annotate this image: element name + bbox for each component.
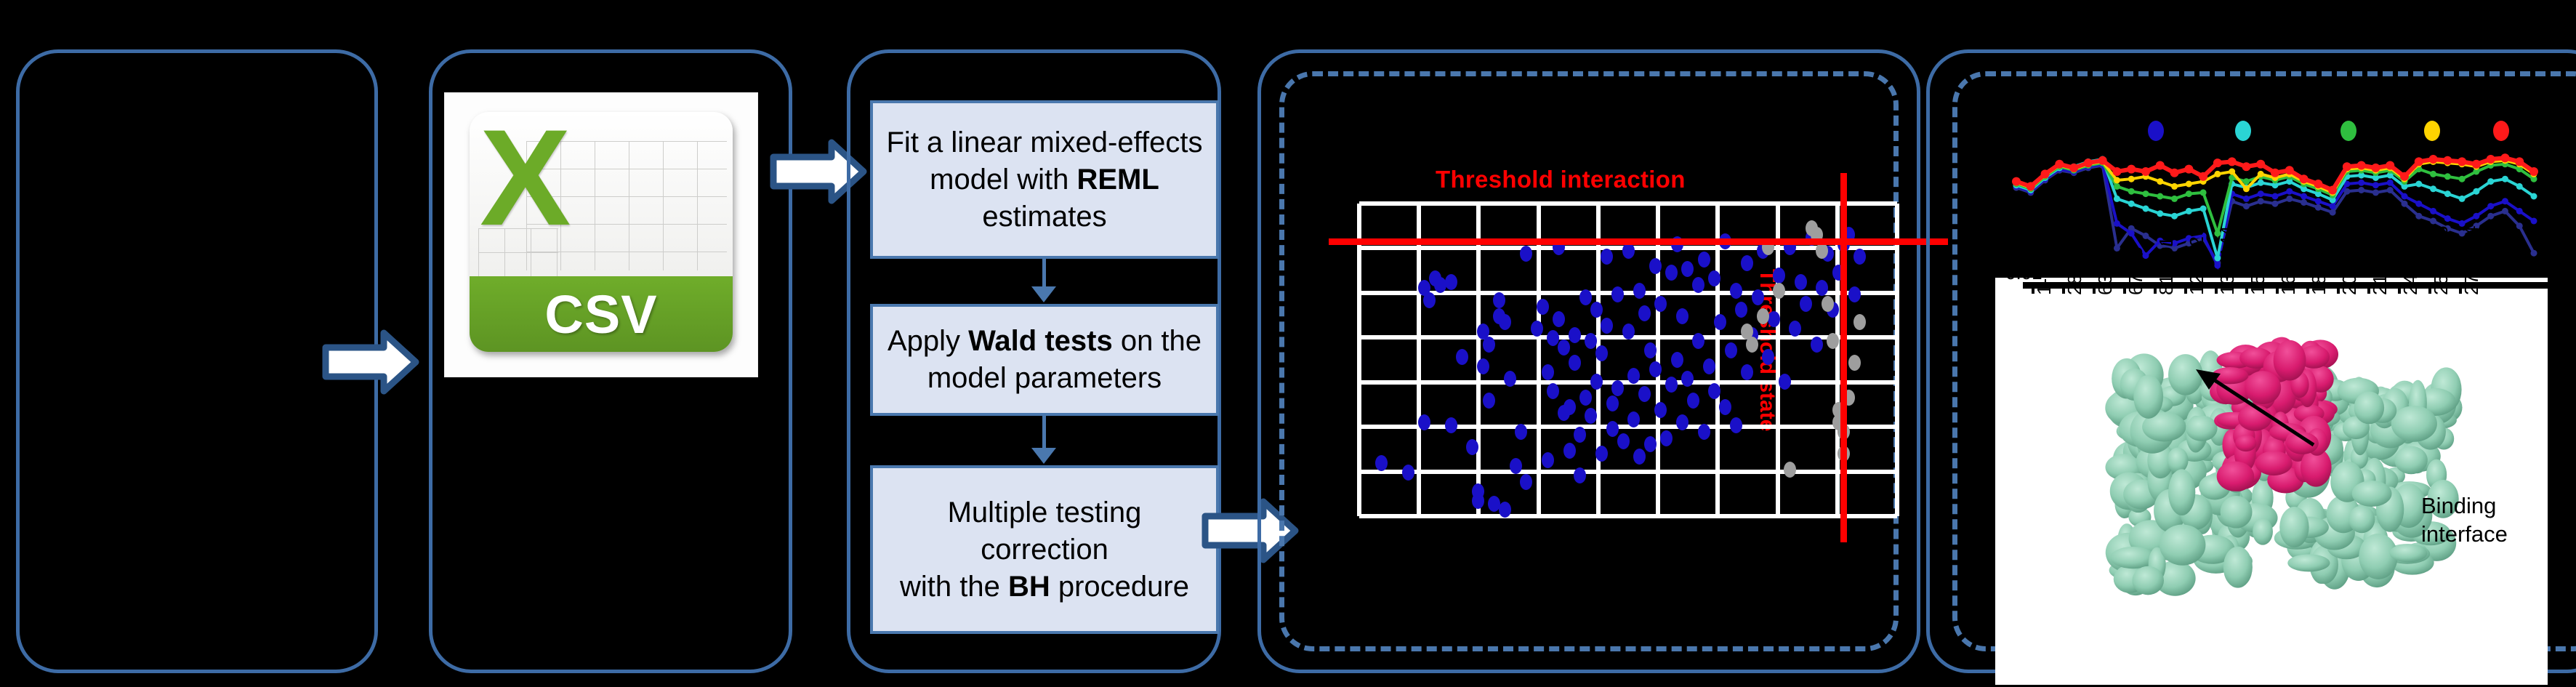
line-marker	[2330, 209, 2336, 216]
scatter-point	[1375, 455, 1388, 471]
scatter-point	[1660, 430, 1673, 446]
line-marker	[2458, 157, 2466, 166]
line-marker	[2272, 201, 2279, 207]
line-marker	[2026, 182, 2035, 190]
surface-lump	[2133, 375, 2163, 419]
scatter-point	[1606, 395, 1619, 411]
flow-step-bh: Multiple testing correctionwith the BH p…	[870, 465, 1219, 634]
scatter-point	[1585, 333, 1597, 349]
line-marker	[2487, 213, 2494, 220]
line-marker	[2114, 183, 2120, 190]
line-marker	[2128, 201, 2135, 207]
scatter-point	[1800, 296, 1812, 312]
scatter-point	[1569, 355, 1581, 371]
line-marker	[2387, 187, 2394, 193]
peptide-tick-label: 184-199	[2308, 226, 2330, 295]
peptide-tick-label: 258-266	[2430, 226, 2452, 295]
line-marker	[2415, 201, 2422, 207]
line-marker	[2157, 193, 2163, 200]
scatter-point	[1638, 386, 1651, 402]
peptide-axis-tick	[2154, 284, 2157, 294]
line-marker	[2186, 181, 2192, 188]
peptide-tick-label: 67-75	[2125, 247, 2147, 296]
scatter-point	[1423, 292, 1436, 308]
figure-canvas: X CSV Fit a linear mixed-effects model w…	[0, 0, 2576, 687]
line-marker	[2112, 167, 2121, 176]
line-marker	[2242, 162, 2250, 171]
legend-dot	[2235, 121, 2251, 141]
surface-lump	[2279, 507, 2309, 547]
scatter-point	[1542, 452, 1554, 468]
threshold-state-line	[1840, 173, 1847, 542]
peptide-tick-label: 81-101	[2155, 236, 2178, 295]
line-marker	[2429, 155, 2438, 164]
peptide-axis-tick	[2062, 284, 2065, 294]
peptide-tick-label: 167-180	[2277, 226, 2300, 295]
peptide-axis-tick	[2093, 284, 2096, 294]
line-marker	[2444, 215, 2451, 222]
scatter-point	[1789, 321, 1801, 337]
line-marker	[2415, 213, 2422, 220]
flow-step-1-post: estimates	[982, 201, 1106, 233]
scatter-point	[1633, 449, 1646, 465]
line-marker	[2128, 176, 2135, 182]
volcano-scatter-plot	[1359, 204, 1897, 516]
peptide-tick-label: 277-284	[2460, 226, 2483, 295]
surface-lump	[2255, 451, 2293, 475]
scatter-point	[1687, 393, 1699, 409]
peptide-tick-label: 28-44	[2064, 247, 2086, 296]
scatter-point	[1445, 417, 1457, 433]
line-marker	[2487, 178, 2494, 185]
results-inset-figure: 0.01 1-1528-4463-7367-7581-101122-129135…	[1995, 278, 2548, 685]
line-marker	[2371, 164, 2380, 172]
scatter-point	[1601, 318, 1613, 334]
scatter-point	[1676, 414, 1689, 430]
peptide-axis-tick	[2245, 284, 2248, 294]
scatter-point	[1730, 283, 1742, 299]
line-marker	[2098, 156, 2107, 165]
line-marker	[2156, 161, 2165, 170]
peptide-axis-tick	[2032, 284, 2034, 294]
line-marker	[2272, 193, 2279, 200]
line-marker	[2330, 203, 2336, 209]
line-marker	[2143, 190, 2149, 197]
scatter-point	[1553, 311, 1565, 327]
scatter-point	[1698, 424, 1710, 440]
line-marker	[2315, 204, 2322, 211]
scatter-point	[1418, 414, 1430, 430]
peptide-tick-label: 241-257	[2399, 226, 2422, 295]
surface-lump	[2168, 469, 2195, 515]
peptide-axis-tick	[2184, 284, 2187, 294]
line-marker	[2444, 173, 2451, 180]
flow-step-1-bold: REML	[1076, 164, 1159, 196]
scatter-point	[1579, 390, 1592, 406]
peptide-tick-label: 200-214	[2338, 226, 2361, 295]
binding-interface-line2: interface	[2421, 520, 2508, 548]
line-marker	[2286, 188, 2293, 195]
scatter-point	[1644, 342, 1657, 358]
scatter-point	[1574, 467, 1586, 483]
line-marker	[2358, 187, 2364, 193]
legend-dot	[2340, 121, 2356, 141]
peptide-axis-tick	[2367, 284, 2370, 294]
scatter-point	[1472, 493, 1484, 509]
scatter-point	[1504, 371, 1516, 387]
scatter-point	[1445, 274, 1457, 290]
scatter-point	[1633, 283, 1646, 299]
line-marker	[2258, 180, 2264, 186]
line-marker	[2170, 169, 2179, 177]
surface-lump	[2132, 566, 2164, 595]
peptide-axis-tick	[2337, 284, 2340, 294]
scatter-point	[1499, 502, 1511, 518]
scatter-point	[1606, 421, 1619, 437]
line-marker	[2171, 213, 2178, 220]
scatter-point	[1542, 364, 1554, 380]
scatter-point	[1730, 417, 1742, 433]
peptide-tick-label: 122-129	[2186, 226, 2208, 295]
line-marker	[2473, 213, 2479, 220]
scatter-point	[1644, 436, 1657, 452]
surface-lump	[2168, 448, 2189, 473]
scatter-point	[1671, 352, 1683, 368]
csv-file-icon: X CSV	[445, 93, 757, 377]
surface-lump	[2287, 554, 2330, 571]
scatter-point	[1499, 314, 1511, 330]
threshold-interaction-line	[1329, 238, 1948, 245]
line-marker	[2069, 164, 2078, 172]
peptide-axis-tick	[2306, 284, 2309, 294]
scatter-point	[1520, 474, 1532, 490]
surface-lump	[2238, 405, 2271, 431]
scatter-point	[1654, 296, 1667, 312]
scatter-point	[1477, 358, 1489, 374]
line-marker	[2128, 188, 2135, 195]
scatter-point	[1590, 374, 1603, 390]
scatter-point	[1617, 433, 1630, 449]
flow-connector-2-arrowhead	[1031, 448, 1056, 464]
scatter-point	[1735, 302, 1747, 318]
threshold-interaction-label: Threshold interaction	[1436, 166, 1686, 193]
line-marker	[2055, 160, 2064, 169]
surface-lump	[2223, 547, 2253, 588]
line-marker	[2430, 208, 2436, 214]
line-marker	[2400, 172, 2409, 181]
line-marker	[2473, 188, 2479, 195]
scatter-point	[1773, 268, 1785, 284]
line-marker	[2315, 198, 2322, 204]
scatter-point	[1681, 261, 1694, 277]
binding-interface-annotation: Binding interface	[2421, 491, 2508, 548]
flow-step-3-post: procedure	[1050, 571, 1189, 603]
line-marker	[2529, 167, 2538, 176]
line-marker	[2114, 196, 2120, 202]
line-marker	[2171, 183, 2178, 190]
line-marker	[2502, 176, 2508, 182]
peptide-tick-label: 1-15	[2033, 257, 2056, 295]
scatter-point	[1741, 364, 1753, 380]
line-marker	[2214, 171, 2221, 177]
scatter-point	[1537, 299, 1549, 315]
scatter-point	[1483, 337, 1495, 353]
line-marker	[2301, 193, 2307, 200]
scatter-point	[1595, 345, 1608, 361]
line-marker	[2487, 203, 2494, 209]
arrow-input-to-csv	[321, 329, 420, 395]
scatter-point	[1822, 296, 1834, 312]
scatter-point	[1773, 283, 1785, 299]
peptide-axis-tick	[2123, 284, 2126, 294]
scatter-point	[1848, 286, 1861, 302]
line-marker	[2502, 208, 2508, 214]
scatter-point	[1762, 349, 1774, 365]
grid-line-horizontal	[1359, 470, 1897, 474]
line-marker	[2171, 196, 2178, 202]
scatter-point	[1752, 289, 1764, 305]
line-marker	[2258, 198, 2264, 204]
line-marker	[2012, 177, 2021, 186]
line-marker	[2430, 185, 2436, 192]
scatter-point	[1811, 337, 1823, 353]
line-marker	[2157, 178, 2163, 185]
line-marker	[2229, 169, 2235, 175]
scatter-point	[1547, 383, 1559, 399]
binding-interface-line1: Binding	[2421, 491, 2508, 520]
line-marker	[2228, 157, 2237, 166]
line-marker	[2444, 190, 2451, 197]
line-marker	[2041, 169, 2050, 178]
grid-line-horizontal	[1359, 514, 1897, 518]
flow-step-2-bold: Wald tests	[968, 325, 1113, 357]
surface-lump	[2221, 496, 2253, 529]
line-marker	[2531, 193, 2537, 200]
flow-connector-1	[1042, 259, 1046, 288]
scatter-point	[1853, 249, 1866, 265]
csv-icon-letter: X	[480, 116, 571, 238]
surface-lump	[2160, 525, 2205, 566]
scatter-point	[1784, 462, 1796, 478]
scatter-point	[1725, 342, 1737, 358]
scatter-point	[1493, 292, 1505, 308]
line-marker	[2443, 156, 2452, 165]
line-marker	[2372, 189, 2379, 196]
scatter-point	[1585, 408, 1597, 424]
line-marker	[2415, 157, 2423, 166]
scatter-point	[1698, 252, 1710, 268]
line-marker	[2430, 218, 2436, 225]
flow-connector-2	[1042, 416, 1046, 449]
surface-lump	[2235, 435, 2256, 451]
scatter-point	[1510, 458, 1522, 474]
line-marker	[2286, 196, 2293, 202]
scatter-point	[1515, 424, 1527, 440]
legend-dot	[2148, 121, 2164, 141]
line-marker	[2301, 199, 2307, 206]
scatter-point	[1714, 314, 1726, 330]
line-marker	[2328, 186, 2337, 195]
scatter-point	[1569, 327, 1581, 343]
peptide-tick-label: 63-73	[2094, 247, 2117, 296]
grid-line-horizontal	[1359, 201, 1897, 206]
grid-line-horizontal	[1359, 425, 1897, 429]
line-marker	[2186, 190, 2192, 197]
surface-lump	[2394, 446, 2428, 475]
peptide-tick-label: 135-144	[2216, 226, 2239, 295]
line-marker	[2243, 185, 2250, 192]
scatter-point	[1779, 374, 1791, 390]
line-marker	[2300, 174, 2309, 183]
line-marker	[2343, 162, 2351, 171]
scatter-point	[1692, 277, 1704, 293]
scatter-point	[1638, 305, 1651, 321]
peptide-axis-tick	[2459, 284, 2462, 294]
line-marker	[2143, 233, 2149, 239]
protein-structure-image	[2096, 329, 2474, 627]
line-marker	[2256, 160, 2265, 169]
scatter-point	[1768, 311, 1780, 327]
peptide-axis-tick	[2276, 284, 2279, 294]
line-marker	[2531, 218, 2537, 225]
scatter-point	[1611, 286, 1624, 302]
line-marker	[2402, 193, 2408, 200]
line-marker	[2243, 178, 2250, 185]
line-marker	[2143, 206, 2149, 212]
scatter-point	[1665, 265, 1678, 281]
surface-lump	[2253, 518, 2273, 545]
line-marker	[2516, 208, 2523, 214]
flow-step-2-pre: Apply	[887, 325, 968, 357]
legend-dot	[2424, 121, 2440, 141]
surface-lump	[2274, 340, 2306, 381]
surface-lump	[2217, 462, 2255, 491]
scatter-point	[1719, 399, 1731, 415]
scatter-point	[1563, 399, 1576, 415]
line-marker	[2200, 189, 2207, 196]
line-marker	[2516, 222, 2523, 229]
scatter-point	[1649, 361, 1662, 377]
scatter-point	[1649, 258, 1662, 274]
peptide-tick-label: 218-237	[2369, 226, 2391, 295]
line-marker	[2459, 196, 2466, 202]
scatter-point	[1456, 349, 1468, 365]
line-marker	[2271, 169, 2279, 177]
scatter-point	[1483, 393, 1495, 409]
scatter-point	[1579, 289, 1592, 305]
surface-lump	[2245, 371, 2281, 404]
flow-step-reml: Fit a linear mixed-effects model with RE…	[870, 100, 1219, 259]
line-marker	[2243, 203, 2250, 209]
line-marker	[2372, 182, 2379, 188]
line-marker	[2386, 161, 2394, 170]
peptide-axis-tick	[2215, 284, 2218, 294]
scatter-point	[1757, 308, 1769, 324]
surface-lump	[2354, 391, 2385, 424]
legend-dot	[2493, 121, 2509, 141]
scatter-point	[1627, 368, 1640, 384]
line-marker	[2213, 158, 2222, 167]
csv-icon-label: CSV	[544, 284, 657, 345]
line-marker	[2186, 208, 2192, 214]
line-marker	[2459, 176, 2466, 182]
scatter-point	[1676, 308, 1689, 324]
line-marker	[2258, 190, 2264, 197]
line-marker	[2358, 180, 2364, 186]
line-marker	[2415, 181, 2422, 188]
flow-step-3-bold: BH	[1008, 571, 1050, 603]
scatter-point	[1558, 340, 1570, 355]
line-marker	[2141, 167, 2150, 176]
surface-lump	[2168, 354, 2202, 395]
scatter-point	[1741, 255, 1753, 271]
line-marker	[2285, 166, 2294, 174]
line-marker	[2114, 220, 2120, 227]
scatter-point	[1622, 243, 1635, 259]
scatter-point	[1746, 337, 1758, 353]
line-marker	[2157, 210, 2163, 217]
scatter-point	[1665, 377, 1678, 393]
line-marker	[2516, 183, 2523, 190]
line-marker	[2515, 157, 2524, 166]
scatter-point	[1853, 314, 1866, 330]
line-marker	[2127, 165, 2136, 174]
scatter-point	[1703, 358, 1715, 374]
scatter-point	[1590, 302, 1603, 318]
scatter-point	[1692, 333, 1704, 349]
line-marker	[2314, 180, 2322, 188]
surface-lump	[2186, 416, 2218, 441]
line-marker	[2084, 158, 2093, 167]
scatter-point	[1611, 380, 1624, 396]
scatter-point	[1848, 355, 1861, 371]
scatter-point	[1595, 446, 1608, 462]
surface-lump	[2352, 481, 2392, 507]
flow-step-wald: Apply Wald tests on the model parameters	[870, 304, 1219, 416]
line-marker	[2114, 177, 2120, 183]
line-marker	[2387, 180, 2394, 186]
scatter-point	[1816, 243, 1828, 259]
scatter-point	[1574, 427, 1586, 443]
scatter-point	[1563, 443, 1576, 459]
surface-lump	[2348, 505, 2375, 533]
line-marker	[2500, 153, 2509, 162]
line-marker	[2184, 165, 2193, 174]
peptide-axis-tick	[2428, 284, 2431, 294]
scatter-point	[1795, 274, 1807, 290]
line-marker	[2357, 161, 2366, 170]
scatter-point	[1520, 246, 1532, 262]
line-marker	[2200, 206, 2207, 212]
line-marker	[2128, 230, 2135, 237]
line-marker	[2430, 171, 2436, 177]
line-marker	[2472, 160, 2481, 169]
scatter-point	[1601, 249, 1613, 265]
flow-connector-1-arrowhead	[1031, 286, 1056, 302]
peptide-axis-tick	[2398, 284, 2401, 294]
line-marker	[2531, 250, 2537, 257]
scatter-point	[1402, 465, 1414, 481]
line-marker	[2487, 155, 2495, 164]
line-marker	[2258, 171, 2264, 177]
line-marker	[2243, 196, 2250, 202]
line-marker	[2199, 172, 2207, 181]
surface-lump	[2391, 406, 2437, 442]
line-marker	[2402, 201, 2408, 207]
scatter-point	[1654, 402, 1667, 418]
line-marker	[2502, 198, 2508, 204]
peptide-tick-label: 158-166	[2247, 226, 2269, 295]
